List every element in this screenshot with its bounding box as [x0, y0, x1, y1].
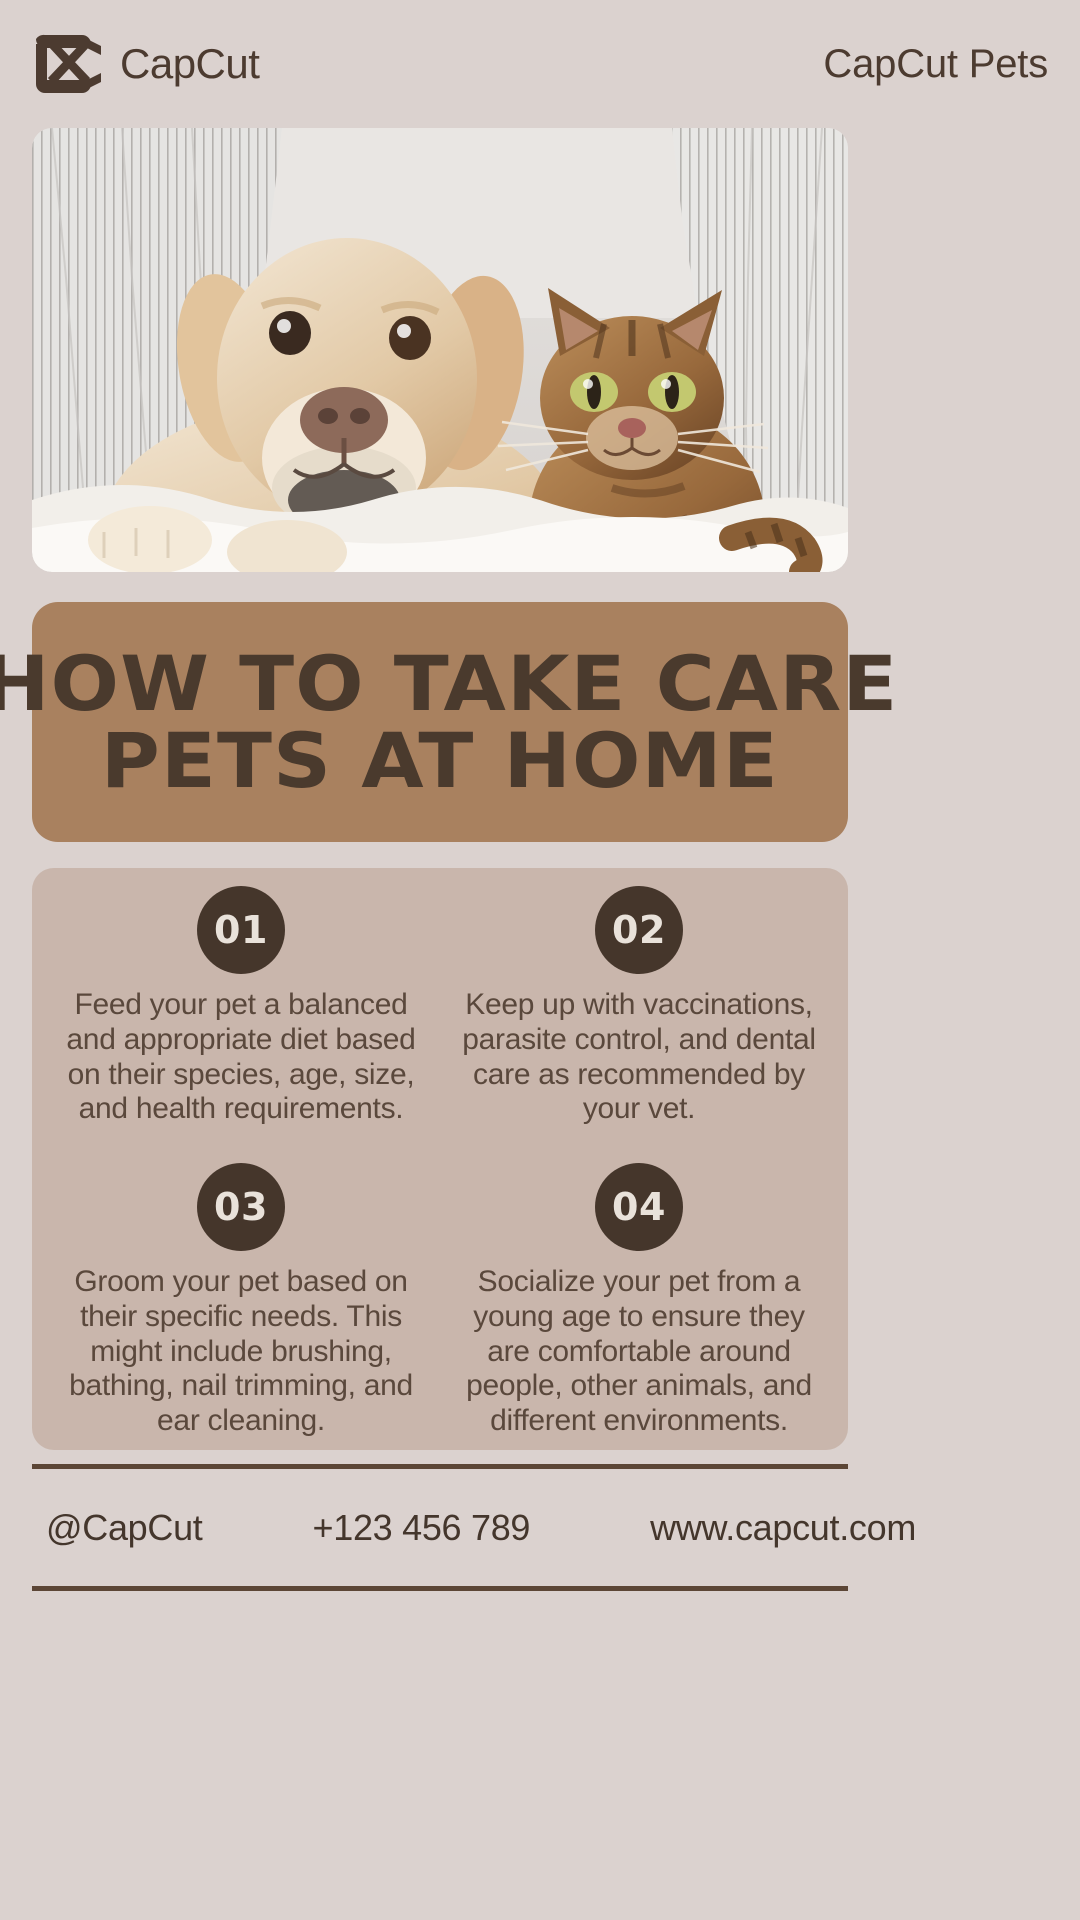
tip-number-badge: 04: [595, 1163, 683, 1251]
brand-name: CapCut: [120, 40, 259, 88]
footer-rule-bottom: [32, 1586, 848, 1591]
tip-number-badge: 02: [595, 886, 683, 974]
footer-phone[interactable]: +123 456 789: [313, 1507, 531, 1549]
tip-item-03: 03 Groom your pet based on their specifi…: [42, 1163, 440, 1440]
tip-item-02: 02 Keep up with vaccinations, parasite c…: [440, 886, 838, 1163]
footer-website[interactable]: www.capcut.com: [650, 1507, 916, 1549]
tip-text: Groom your pet based on their specific n…: [56, 1265, 426, 1439]
brand-block: CapCut: [32, 33, 259, 95]
page-header: CapCut CapCut Pets: [0, 0, 1080, 128]
tip-text: Socialize your pet from a young age to e…: [454, 1265, 824, 1439]
page-footer: @CapCut +123 456 789 www.capcut.com: [32, 1469, 848, 1586]
title-line-1: HOW TO TAKE CARE: [0, 646, 898, 721]
capcut-logo-icon: [32, 33, 102, 95]
tip-item-01: 01 Feed your pet a balanced and appropri…: [42, 886, 440, 1163]
title-banner: HOW TO TAKE CARE PETS AT HOME: [32, 602, 848, 842]
header-tagline: CapCut Pets: [823, 42, 1048, 87]
tip-text: Keep up with vaccinations, parasite cont…: [454, 988, 824, 1127]
hero-image: [32, 128, 848, 572]
tip-number-badge: 01: [197, 886, 285, 974]
title-line-2: PETS AT HOME: [101, 723, 779, 798]
footer-handle[interactable]: @CapCut: [46, 1507, 203, 1549]
tips-card: 01 Feed your pet a balanced and appropri…: [32, 868, 848, 1450]
tip-item-04: 04 Socialize your pet from a young age t…: [440, 1163, 838, 1440]
tip-number-badge: 03: [197, 1163, 285, 1251]
tip-text: Feed your pet a balanced and appropriate…: [56, 988, 426, 1127]
